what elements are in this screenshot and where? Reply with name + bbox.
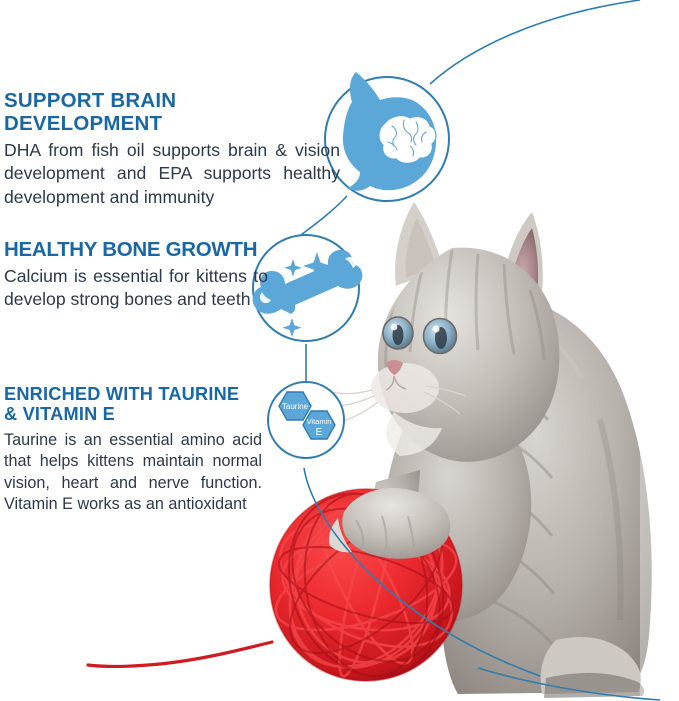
feature-body-bone: Calcium is essential for kittens to deve… bbox=[4, 265, 268, 312]
vitamin-hexagon-letter: E bbox=[316, 427, 323, 438]
yarn-strand bbox=[88, 642, 272, 666]
feature-block-taurine: ENRICHED WITH TAURINE & VITAMIN E Taurin… bbox=[4, 384, 262, 516]
feature-heading-bone: HEALTHY BONE GROWTH bbox=[4, 239, 268, 262]
icon-circle-bone[interactable] bbox=[253, 235, 363, 341]
feature-block-bone: HEALTHY BONE GROWTH Calcium is essential… bbox=[4, 239, 268, 312]
infographic-canvas: Taurine Vitamin E SUPPORT BRAIN DEVELOPM… bbox=[0, 0, 679, 701]
taurine-hexagon-label: Taurine bbox=[282, 402, 309, 411]
feature-heading-brain: SUPPORT BRAIN DEVELOPMENT bbox=[4, 90, 340, 136]
kitten-body bbox=[440, 295, 651, 698]
icon-circle-taurine[interactable]: Taurine Vitamin E bbox=[268, 382, 344, 458]
kitten-ears bbox=[395, 202, 543, 306]
connector-taurine-to-bottom bbox=[304, 468, 540, 676]
kitten-paw bbox=[329, 488, 450, 559]
feature-block-brain: SUPPORT BRAIN DEVELOPMENT DHA from fish … bbox=[4, 90, 340, 209]
feature-heading-taurine: ENRICHED WITH TAURINE & VITAMIN E bbox=[4, 384, 262, 425]
kitten-muzzle bbox=[332, 360, 466, 422]
kitten-front-leg bbox=[344, 470, 420, 606]
connector-top bbox=[430, 0, 640, 84]
kitten-head bbox=[332, 248, 559, 462]
connector-bottom-right bbox=[478, 668, 660, 700]
kitten-eyes bbox=[383, 317, 457, 354]
feature-body-taurine: Taurine is an essential amino acid that … bbox=[4, 430, 262, 516]
icon-circle-brain[interactable] bbox=[325, 72, 449, 201]
feature-body-brain: DHA from fish oil supports brain & visio… bbox=[4, 139, 340, 209]
kitten-neck bbox=[382, 398, 532, 622]
vitamin-hexagon-label: Vitamin bbox=[307, 417, 332, 426]
